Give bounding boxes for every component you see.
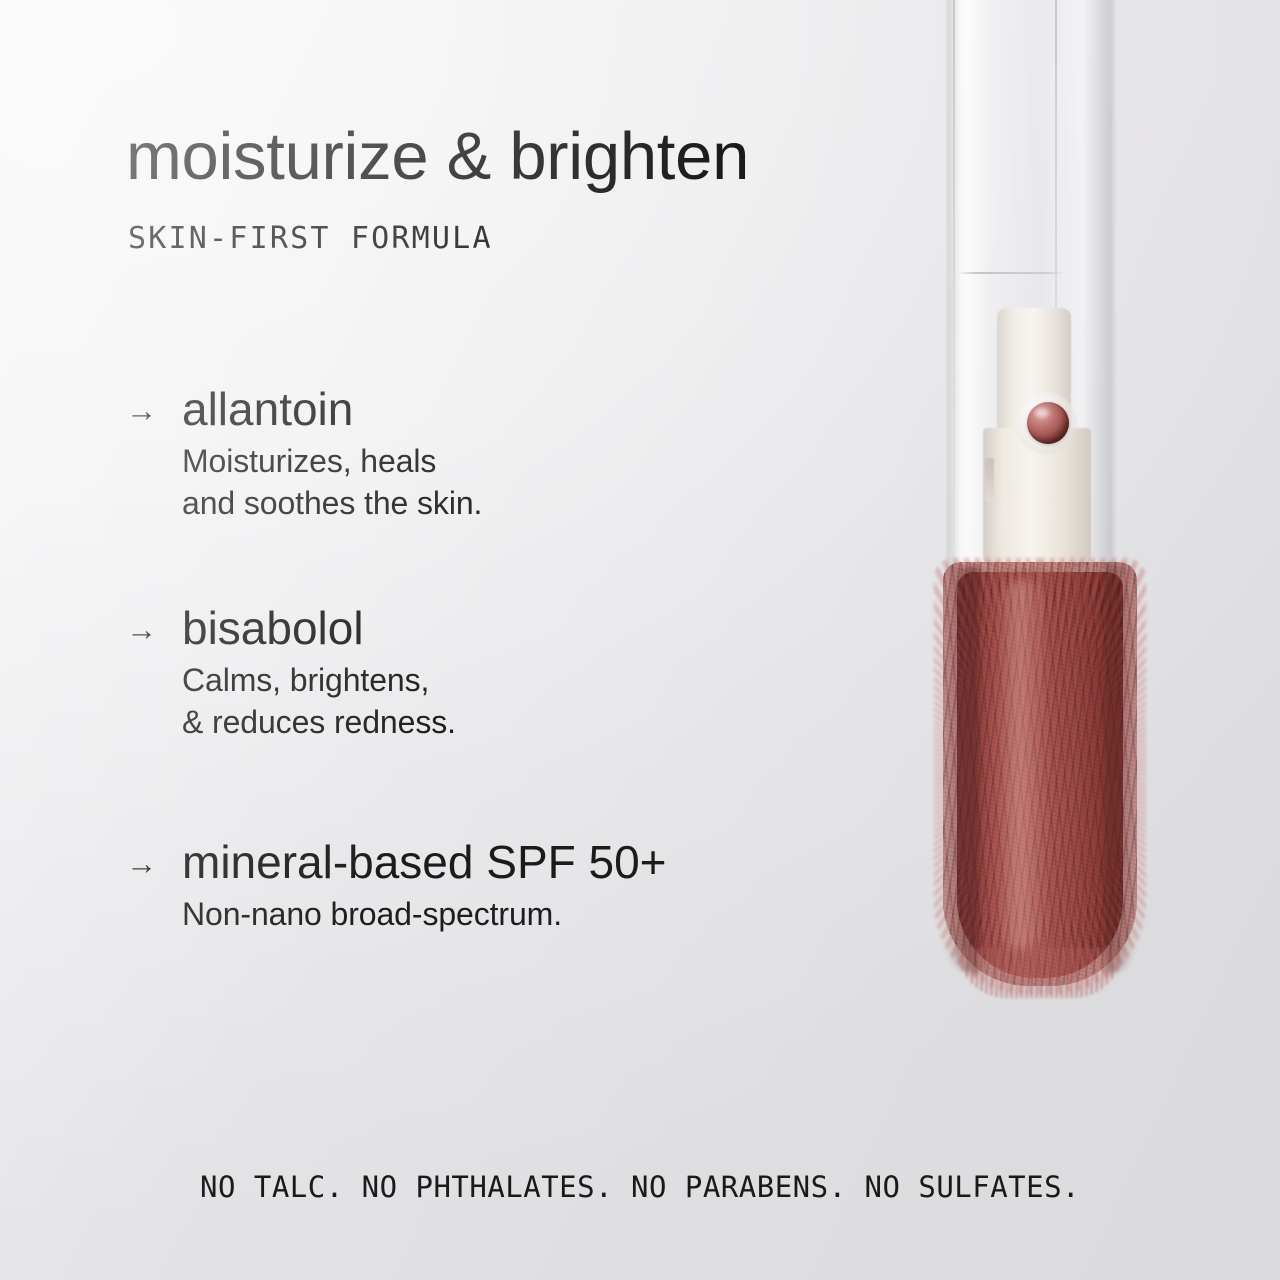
product-image-applicator-wand bbox=[905, 0, 1165, 1006]
arrow-right-icon: → bbox=[126, 848, 160, 879]
brush-highlight bbox=[995, 580, 1049, 950]
benefit-title: allantoin bbox=[182, 385, 353, 433]
benefit-heading: → bisabolol bbox=[126, 604, 456, 652]
benefit-heading: → mineral-based SPF 50+ bbox=[126, 838, 667, 886]
list-item: → bisabolol Calms, brightens, & reduces … bbox=[126, 604, 456, 743]
product-poster: moisturize & brighten SKIN-FIRST FORMULA… bbox=[0, 0, 1280, 1280]
page-subtitle: SKIN-FIRST FORMULA bbox=[128, 224, 493, 254]
brush-shadow-left bbox=[945, 566, 979, 974]
list-item: → allantoin Moisturizes, heals and sooth… bbox=[126, 385, 482, 524]
free-from-claims: NO TALC. NO PHTHALATES. NO PARABENS. NO … bbox=[0, 1170, 1280, 1204]
copy-column: moisturize & brighten SKIN-FIRST FORMULA… bbox=[0, 0, 900, 1280]
arrow-right-icon: → bbox=[126, 614, 160, 645]
page-title: moisturize & brighten bbox=[126, 123, 749, 190]
wand-collar-notch bbox=[985, 458, 994, 502]
applicator-brush-head bbox=[943, 562, 1137, 986]
benefit-description: Non-nano broad-spectrum. bbox=[182, 894, 667, 936]
benefit-description: Calms, brightens, & reduces redness. bbox=[182, 660, 456, 743]
tube-seam-line bbox=[957, 272, 1065, 274]
brush-shadow-right bbox=[1105, 566, 1135, 974]
benefit-title: mineral-based SPF 50+ bbox=[182, 838, 667, 886]
benefit-description: Moisturizes, heals and soothes the skin. bbox=[182, 441, 482, 524]
brush-tip-bristles bbox=[957, 948, 1123, 998]
list-item: → mineral-based SPF 50+ Non-nano broad-s… bbox=[126, 838, 667, 936]
benefit-heading: → allantoin bbox=[126, 385, 482, 433]
benefit-title: bisabolol bbox=[182, 604, 364, 652]
product-droplet-bead bbox=[1027, 402, 1069, 444]
arrow-right-icon: → bbox=[126, 395, 160, 426]
bead-specular-highlight bbox=[1035, 408, 1049, 418]
tube-inner-edge-left bbox=[953, 0, 955, 568]
